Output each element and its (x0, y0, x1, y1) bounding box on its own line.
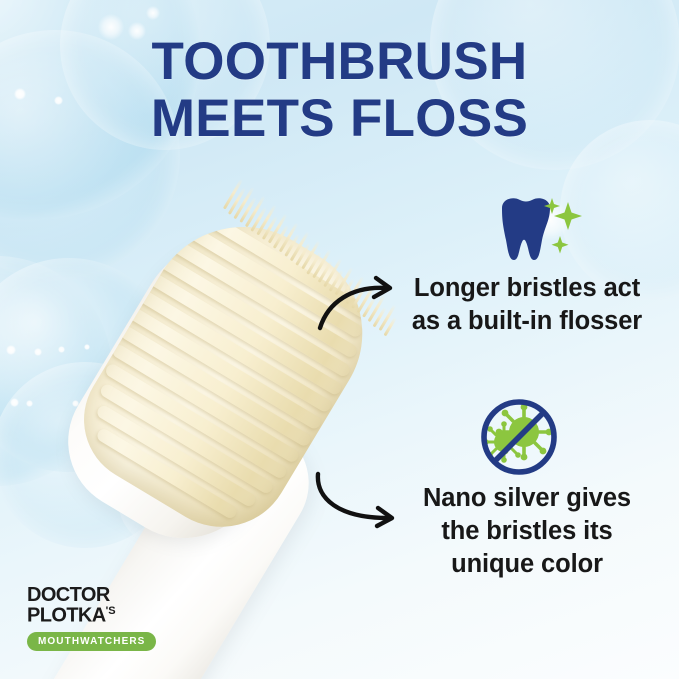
logo-line-1: DOCTOR (27, 586, 156, 606)
feature-2-line-2: the bristles its (384, 515, 670, 548)
no-germs-icon (478, 398, 560, 476)
logo-tagline-pill: MOUTHWATCHERS (27, 632, 156, 651)
feature-2-line-1: Nano silver gives (384, 482, 670, 515)
feature-1-text: Longer bristles act as a built-in flosse… (384, 272, 670, 338)
feature-1-line-1: Longer bristles act (384, 272, 670, 305)
logo-line-2: PLOTKA'S (27, 606, 156, 626)
feature-2-line-3: unique color (384, 548, 670, 581)
promo-image: TOOTHBRUSH MEETS FLOSS (0, 0, 679, 679)
feature-2-text: Nano silver gives the bristles its uniqu… (384, 482, 670, 581)
feature-1-line-2: as a built-in flosser (384, 305, 670, 338)
logo-brand-name: PLOTKA (27, 604, 106, 626)
brand-logo: DOCTOR PLOTKA'S MOUTHWATCHERS (27, 586, 156, 651)
tooth-sparkle-icon (490, 196, 590, 264)
logo-possessive: 'S (106, 605, 116, 617)
